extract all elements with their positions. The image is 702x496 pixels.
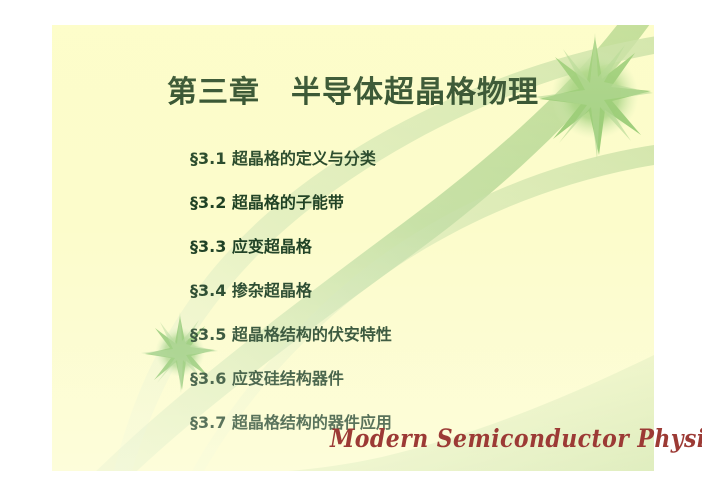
section-list: §3.1 超晶格的定义与分类 §3.2 超晶格的子能带 §3.3 应变超晶格 §… — [190, 137, 650, 445]
list-item-3-3: §3.3 应变超晶格 — [190, 225, 650, 269]
list-item-3-5: §3.5 超晶格结构的伏安特性 — [190, 313, 650, 357]
list-item-3-6: §3.6 应变硅结构器件 — [190, 357, 650, 401]
slide-canvas: 第三章 半导体超晶格物理 §3.1 超晶格的定义与分类 §3.2 超晶格的子能带… — [52, 25, 654, 471]
list-item-3-1: §3.1 超晶格的定义与分类 — [190, 137, 650, 181]
list-item-3-2: §3.2 超晶格的子能带 — [190, 181, 650, 225]
course-subtitle: Modern Semiconductor Physics — [330, 424, 702, 453]
list-item-3-4: §3.4 掺杂超晶格 — [190, 269, 650, 313]
slide-stage: 第三章 半导体超晶格物理 §3.1 超晶格的定义与分类 §3.2 超晶格的子能带… — [0, 0, 702, 496]
page-title: 第三章 半导体超晶格物理 — [52, 67, 654, 111]
